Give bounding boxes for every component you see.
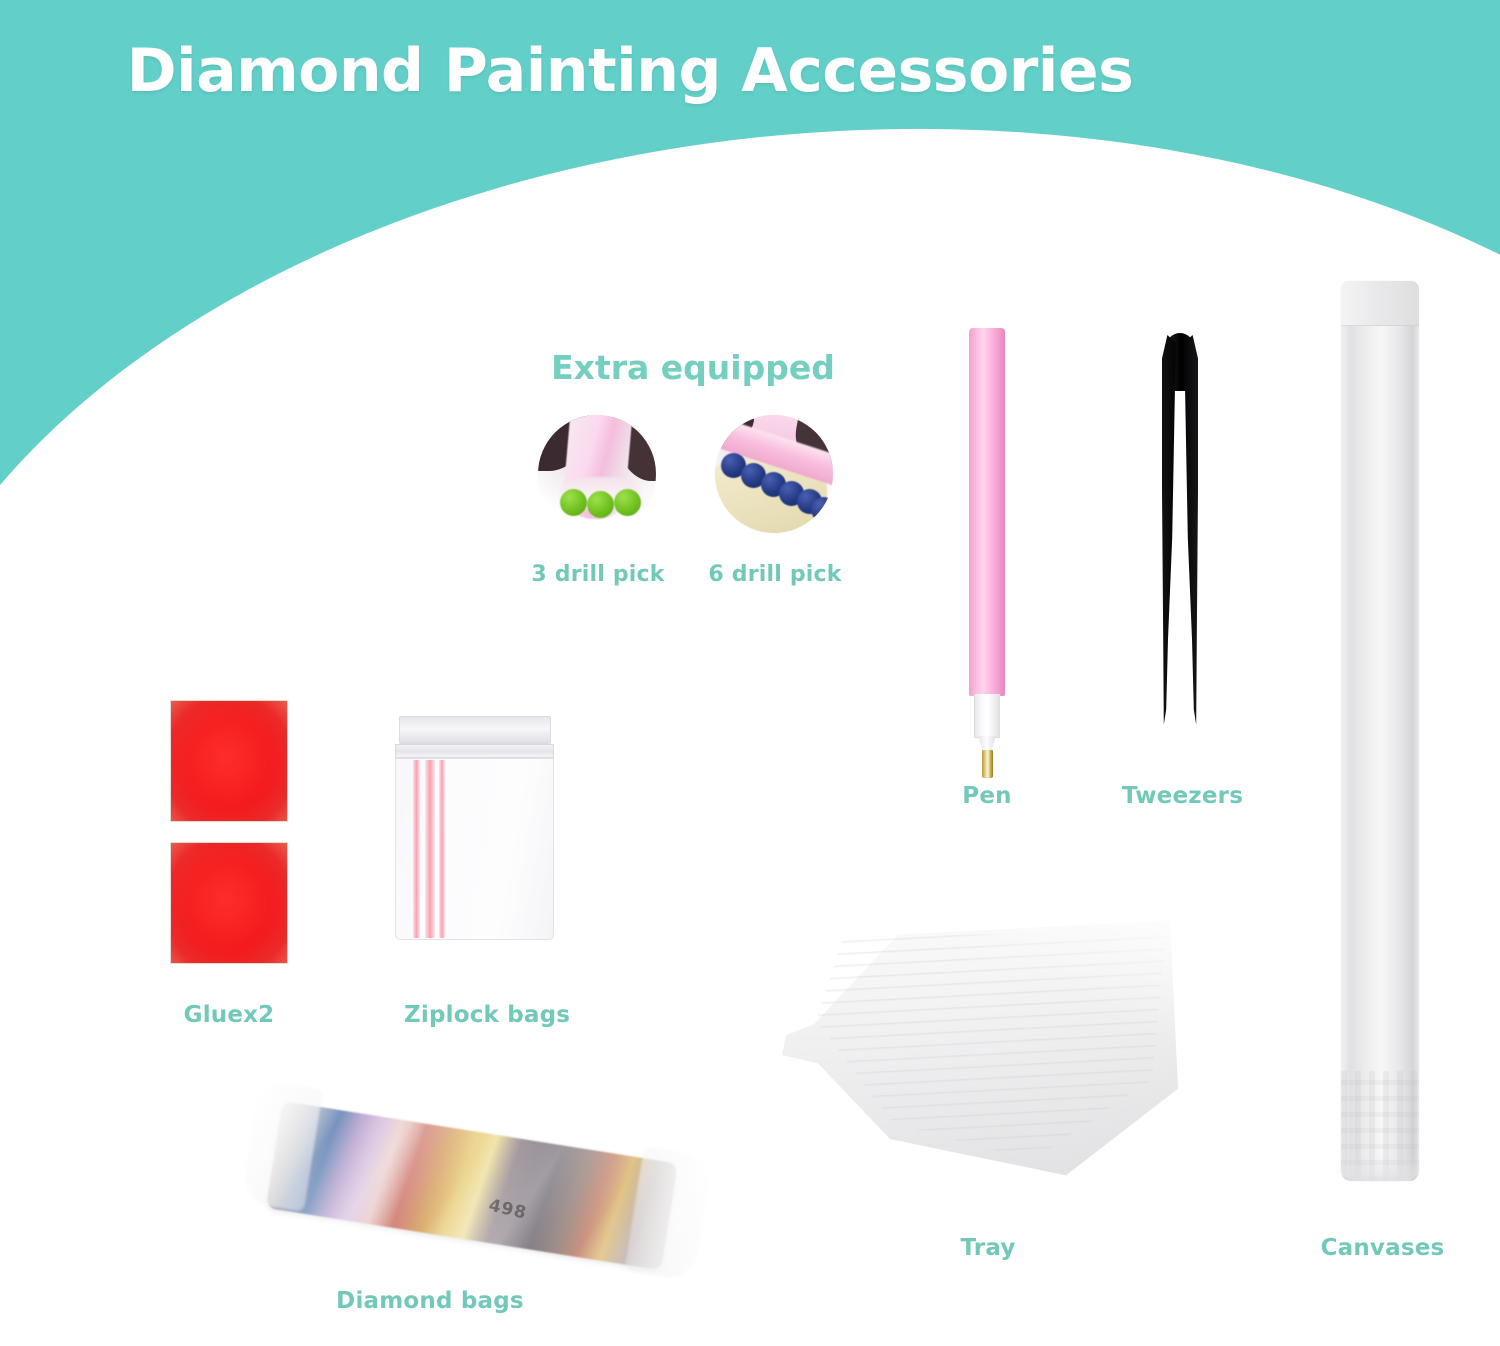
page-title: Diamond Painting Accessories (0, 36, 1260, 106)
tweezers-icon (1128, 335, 1232, 725)
tweezers-label: Tweezers (1110, 783, 1255, 809)
pen-label: Pen (917, 783, 1057, 809)
tray-label: Tray (928, 1235, 1048, 1261)
glue-label: Gluex2 (159, 1002, 299, 1028)
canvas-roll-icon (1341, 281, 1419, 1181)
glue-square-2-icon (170, 842, 288, 964)
extra-equipped-heading: Extra equipped (528, 348, 858, 387)
drill-pick-3-icon (538, 415, 656, 533)
infographic-canvas: Diamond Painting Accessories Extra equip… (0, 0, 1500, 1346)
diamond-bags-label: Diamond bags (330, 1288, 530, 1314)
drill-pick-6-icon (715, 415, 833, 533)
glue-square-1-icon (170, 700, 288, 822)
header-band: Diamond Painting Accessories (0, 0, 1500, 640)
drill-pick-3-label: 3 drill pick (528, 562, 668, 587)
ziplock-bags-icon (393, 716, 556, 942)
diamond-bags-icon: 498 (258, 1090, 688, 1305)
canvases-label: Canvases (1310, 1235, 1455, 1261)
ziplock-bags-label: Ziplock bags (404, 1002, 554, 1028)
tray-icon (778, 915, 1178, 1195)
drill-pick-6-label: 6 drill pick (705, 562, 845, 587)
